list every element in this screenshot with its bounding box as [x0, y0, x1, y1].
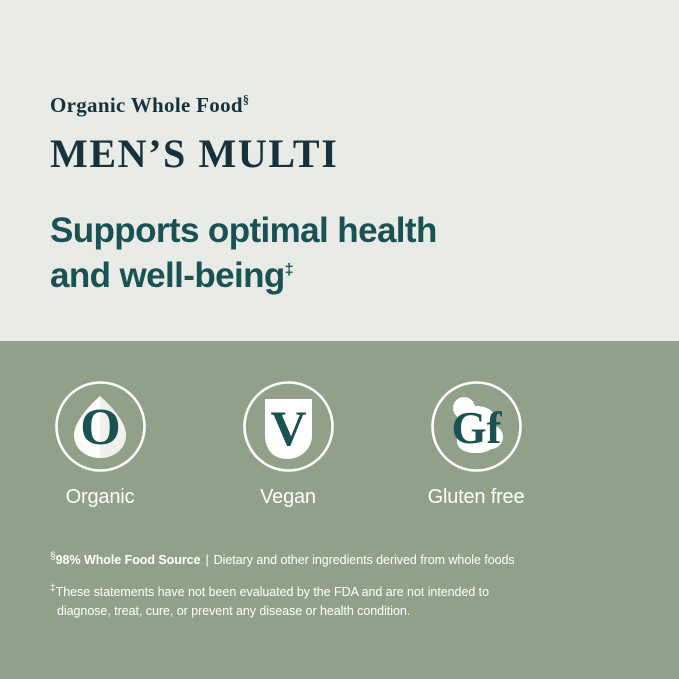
svg-text:V: V: [270, 400, 306, 456]
badge-organic: O Organic: [50, 379, 150, 509]
vegan-leaf-v-icon: V: [241, 379, 336, 474]
svg-text:O: O: [80, 399, 120, 456]
badge-label-vegan: Vegan: [260, 486, 316, 509]
claim-text: Supports optimal health and well-being‡: [50, 209, 570, 299]
footnotes: §98% Whole Food Source|Dietary and other…: [50, 551, 629, 620]
badges-row: O Organic V Vegan: [50, 341, 629, 509]
vegan-icon-svg: V: [241, 379, 336, 474]
organic-icon-svg: O: [53, 379, 148, 474]
eyebrow-label: Organic Whole Food: [50, 93, 243, 117]
product-info-panel: Organic Whole Food§ MEN’S MULTI Supports…: [0, 0, 679, 679]
footnote-source-text: Dietary and other ingredients derived fr…: [214, 553, 515, 567]
svg-text:Gf: Gf: [451, 403, 502, 453]
footnote-whole-food-source: §98% Whole Food Source|Dietary and other…: [50, 551, 629, 570]
claim-line-1: Supports optimal health: [50, 211, 437, 250]
gluten-free-gf-icon: Gf: [429, 379, 524, 474]
badge-vegan: V Vegan: [238, 379, 338, 509]
footnote-fda-disclaimer: ‡These statements have not been evaluate…: [50, 583, 629, 621]
footnote-source-divider: |: [200, 553, 213, 567]
badge-label-organic: Organic: [66, 486, 135, 509]
badge-gluten-free: Gf Gluten free: [426, 379, 526, 509]
claim-line-2: and well-being: [50, 256, 285, 295]
footnote-fda-line-1: These statements have not been evaluated…: [56, 585, 489, 599]
badge-label-gluten-free: Gluten free: [428, 486, 525, 509]
page-title: MEN’S MULTI: [50, 134, 679, 174]
footnote-source-strong: 98% Whole Food Source: [56, 553, 201, 567]
claim-footnote-mark: ‡: [285, 260, 293, 278]
hero-section: Organic Whole Food§ MEN’S MULTI Supports…: [0, 0, 679, 341]
gluten-free-icon-svg: Gf: [429, 379, 524, 474]
eyebrow-text: Organic Whole Food§: [50, 95, 679, 116]
certifications-section: O Organic V Vegan: [0, 341, 679, 679]
organic-leaf-o-icon: O: [53, 379, 148, 474]
footnote-fda-line-2: diagnose, treat, cure, or prevent any di…: [50, 602, 629, 621]
eyebrow-footnote-mark: §: [243, 93, 249, 107]
